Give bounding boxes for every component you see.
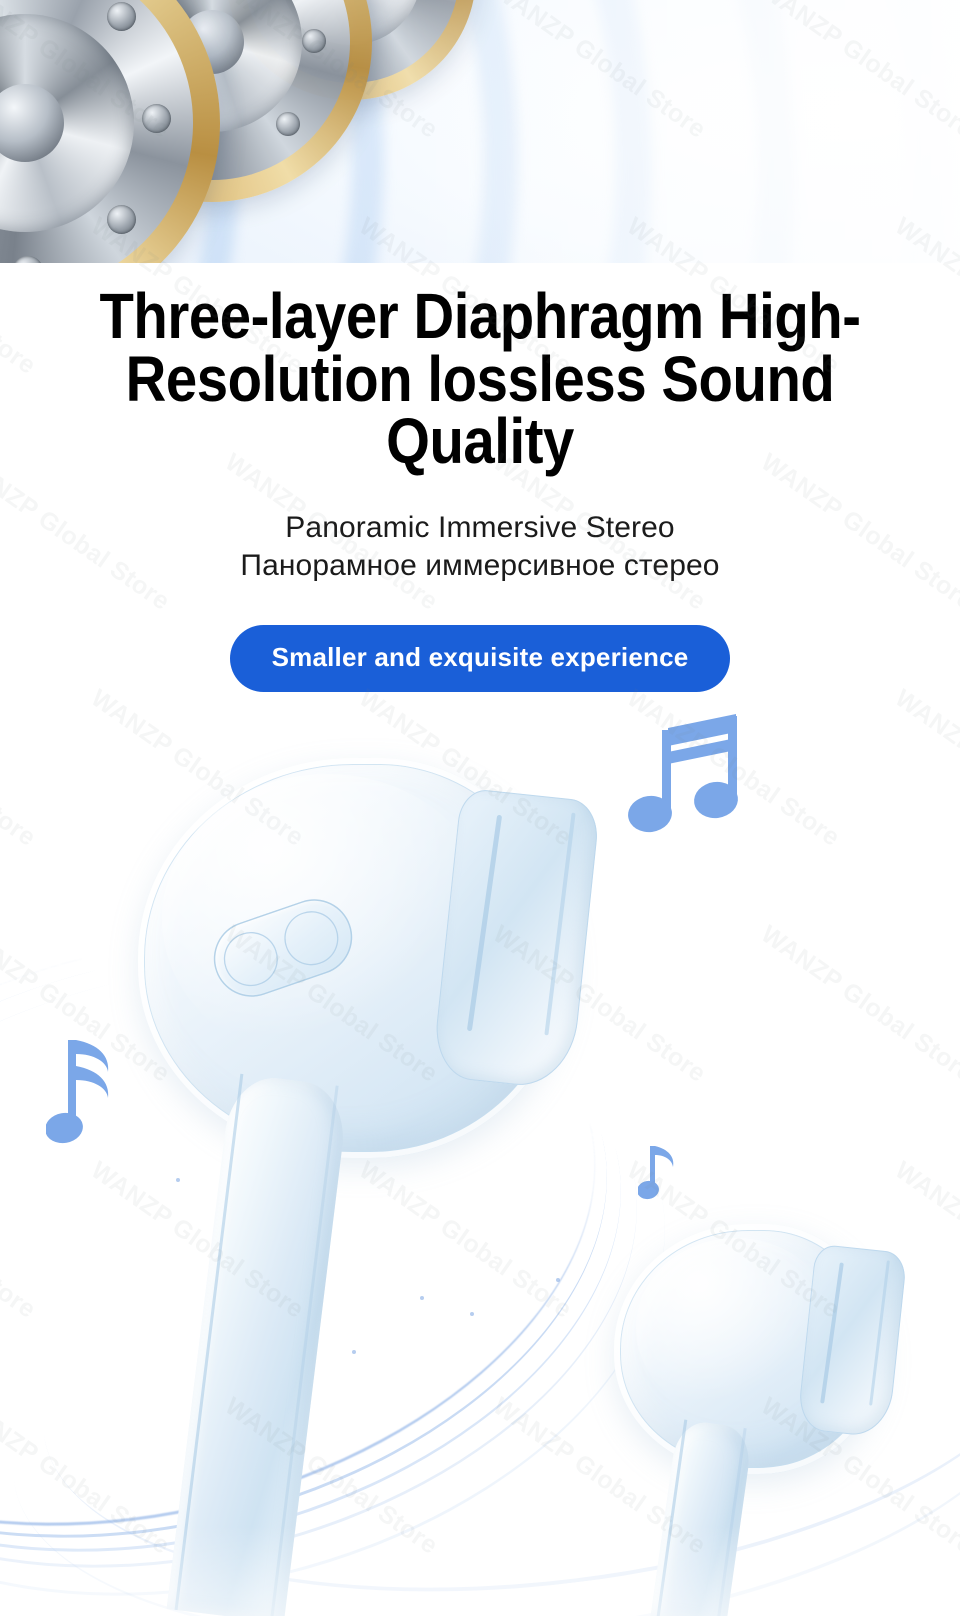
page-title: Three-layer Diaphragm High- Resolution l… (58, 263, 903, 473)
subtitle-group: Panoramic Immersive Stereo Панорамное им… (0, 509, 960, 585)
product-detail-page: Three-layer Diaphragm High- Resolution l… (0, 0, 960, 1616)
earbud-stem (167, 1073, 350, 1616)
music-note-sixteenth-icon (46, 1026, 132, 1146)
earbud-nozzle (797, 1244, 908, 1439)
sensor-dot (216, 924, 285, 993)
driver-bolt (142, 104, 171, 133)
experience-pill-button[interactable]: Smaller and exquisite experience (230, 625, 731, 692)
driver-bolt (107, 205, 136, 234)
headline-line-2: Resolution lossless Sound Quality (126, 343, 835, 478)
music-note-eighth-icon (638, 1138, 682, 1200)
sensor-dot (277, 904, 346, 973)
driver-bolt (302, 29, 326, 53)
pill-wrapper: Smaller and exquisite experience (0, 625, 960, 692)
headline-line-1: Three-layer Diaphragm High- (99, 280, 860, 352)
music-note-double-eighth-icon (628, 702, 748, 834)
subtitle-english: Panoramic Immersive Stereo (0, 509, 960, 547)
earbud-stem-edge (175, 1074, 244, 1610)
earbud-nozzle (431, 787, 601, 1090)
subtitle-russian: Панорамное иммерсивное стерео (0, 547, 960, 585)
hero-gradient-fade (403, 0, 960, 263)
speaker-driver-ring (0, 0, 220, 263)
earbud-small-right (596, 1216, 936, 1616)
content-block: Three-layer Diaphragm High- Resolution l… (0, 263, 960, 692)
hero-banner (0, 0, 960, 263)
earbud-large-left (128, 750, 628, 1616)
earbud-stem-edge (270, 1085, 339, 1616)
product-showcase (0, 660, 960, 1616)
earbud-stem-edge (716, 1428, 747, 1616)
